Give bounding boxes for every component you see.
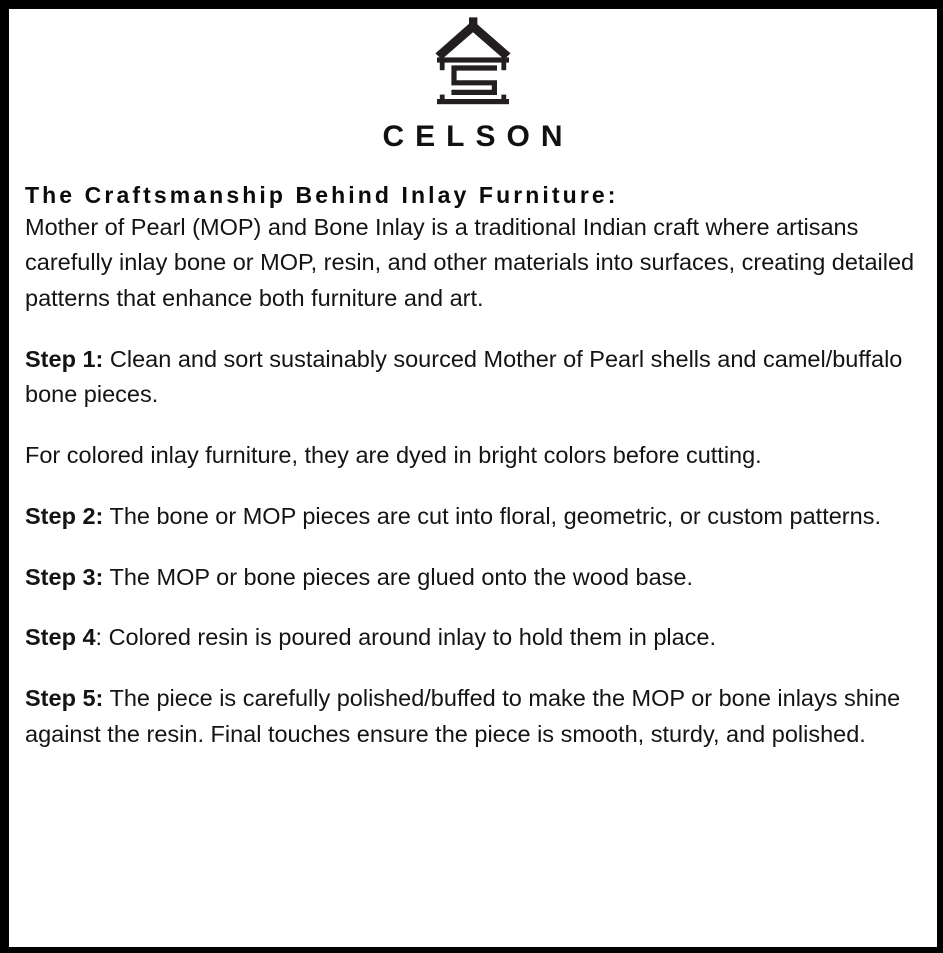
- step-5-label: Step 5:: [25, 685, 103, 711]
- paragraph-dye-note: For colored inlay furniture, they are dy…: [25, 438, 923, 474]
- poster-card: CELSON The Craftsmanship Behind Inlay Fu…: [0, 0, 943, 953]
- brand-header: CELSON: [16, 9, 929, 152]
- step-5-text: The piece is carefully polished/buffed t…: [25, 685, 900, 747]
- brand-wordmark: CELSON: [16, 122, 929, 152]
- paragraph-step-1: Step 1: Clean and sort sustainably sourc…: [25, 342, 923, 413]
- dye-note-text: For colored inlay furniture, they are dy…: [25, 442, 762, 468]
- step-2-text: The bone or MOP pieces are cut into flor…: [103, 503, 881, 529]
- house-monogram-logo-icon: [429, 15, 517, 111]
- paragraph-step-5: Step 5: The piece is carefully polished/…: [25, 681, 923, 752]
- poster-inner: CELSON The Craftsmanship Behind Inlay Fu…: [9, 9, 937, 947]
- intro-text: Mother of Pearl (MOP) and Bone Inlay is …: [25, 214, 914, 311]
- step-1-label: Step 1:: [25, 346, 103, 372]
- paragraph-step-3: Step 3: The MOP or bone pieces are glued…: [25, 560, 923, 596]
- step-3-label: Step 3:: [25, 564, 103, 590]
- step-4-label: Step 4: [25, 624, 96, 650]
- paragraph-intro: Mother of Pearl (MOP) and Bone Inlay is …: [25, 210, 923, 317]
- step-2-label: Step 2:: [25, 503, 103, 529]
- paragraph-step-2: Step 2: The bone or MOP pieces are cut i…: [25, 499, 923, 535]
- step-3-text: The MOP or bone pieces are glued onto th…: [103, 564, 693, 590]
- step-4-text: : Colored resin is poured around inlay t…: [96, 624, 717, 650]
- page-title: The Craftsmanship Behind Inlay Furniture…: [25, 182, 929, 210]
- paragraph-step-4: Step 4: Colored resin is poured around i…: [25, 620, 923, 656]
- step-1-text: Clean and sort sustainably sourced Mothe…: [25, 346, 902, 408]
- article-body: Mother of Pearl (MOP) and Bone Inlay is …: [25, 210, 923, 753]
